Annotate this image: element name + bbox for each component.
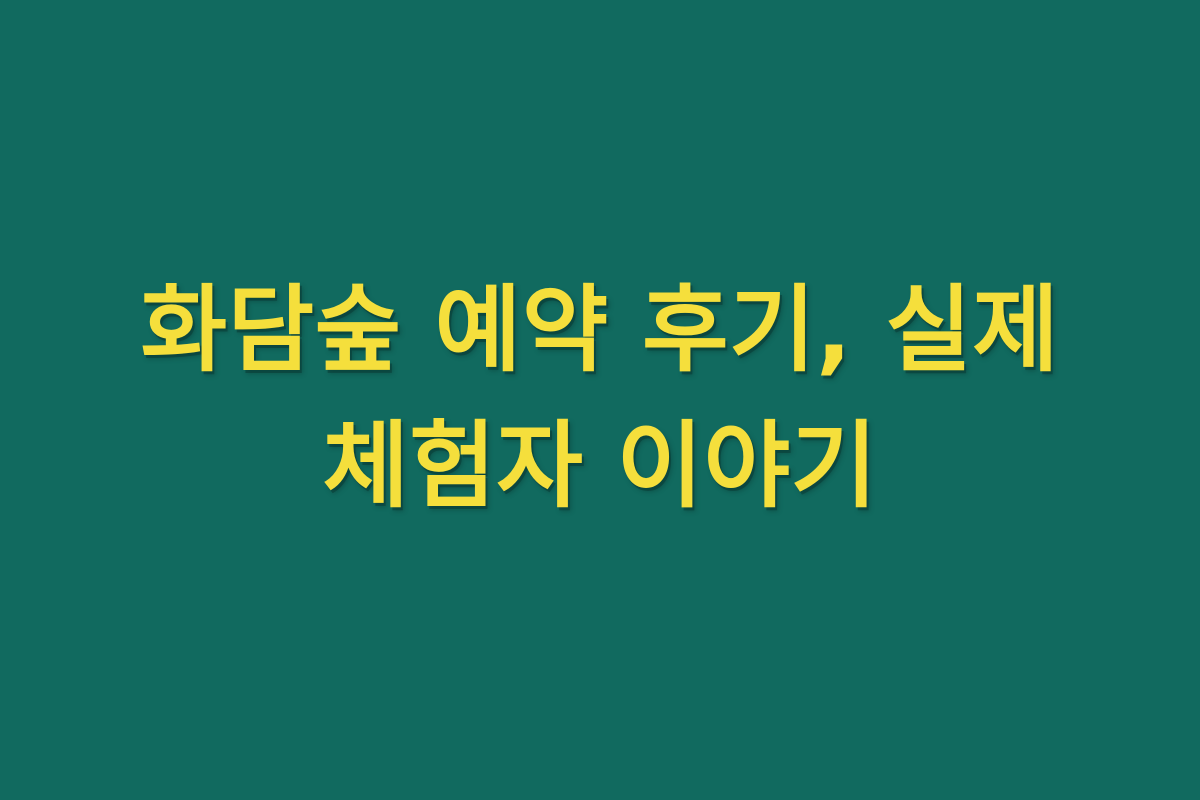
title-line-2: 체험자 이야기 bbox=[90, 399, 1110, 535]
thumbnail-card: 화담숲 예약 후기, 실제 체험자 이야기 bbox=[0, 0, 1200, 800]
title-block: 화담숲 예약 후기, 실제 체험자 이야기 bbox=[70, 263, 1130, 535]
title-line-1: 화담숲 예약 후기, 실제 bbox=[90, 263, 1110, 399]
